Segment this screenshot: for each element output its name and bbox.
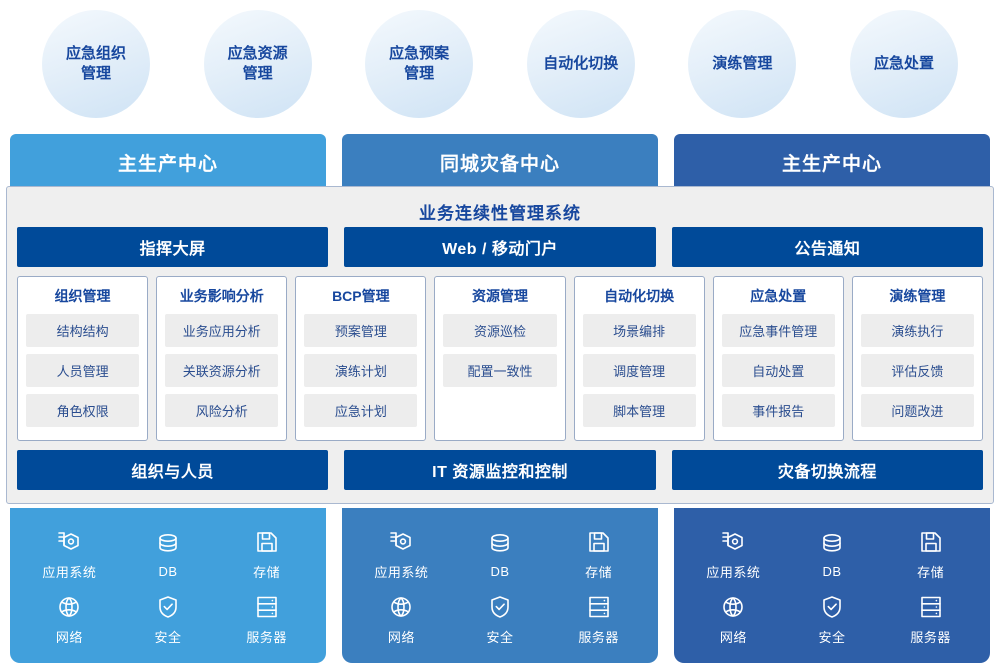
database-icon — [155, 531, 181, 557]
module-item[interactable]: 调度管理 — [583, 354, 696, 387]
server-rack-icon — [586, 594, 612, 620]
module-title: 资源管理 — [443, 286, 556, 306]
module-item[interactable]: 业务应用分析 — [165, 314, 278, 347]
infra-item-app-system[interactable]: 应用系统 — [20, 529, 119, 581]
infra-label: 安全 — [154, 627, 181, 646]
module-item[interactable]: 问题改进 — [861, 394, 974, 427]
module-card-bcp-management[interactable]: BCP管理 预案管理 演练计划 应急计划 — [295, 276, 426, 441]
infra-label: DB — [822, 564, 841, 579]
capability-circle-3-line1: 自动化切换 — [535, 54, 626, 74]
datacenter-header-metro-dr[interactable]: 同城灾备中心 — [342, 134, 658, 190]
datacenter-header-primary[interactable]: 主生产中心 — [10, 134, 326, 190]
bottom-band-row: 组织与人员 IT 资源监控和控制 灾备切换流程 — [17, 450, 983, 490]
capability-circle-5[interactable]: 应急处置 — [850, 10, 958, 118]
infrastructure-panel-primary: 应用系统 DB 存储 — [10, 508, 326, 663]
capability-circle-2[interactable]: 应急预案 管理 — [365, 10, 473, 118]
infra-item-storage[interactable]: 存储 — [217, 529, 316, 581]
datacenter-headers-row: 主生产中心 同城灾备中心 主生产中心 — [0, 134, 1000, 190]
capability-circle-5-line1: 应急处置 — [866, 54, 942, 74]
module-title: 组织管理 — [26, 286, 139, 306]
capability-circle-2-line1: 应急预案 — [381, 44, 457, 64]
capability-circle-4[interactable]: 演练管理 — [688, 10, 796, 118]
datacenter-header-primary-2[interactable]: 主生产中心 — [674, 134, 990, 190]
storage-icon — [586, 529, 612, 555]
infra-label: DB — [158, 564, 177, 579]
module-card-grid: 组织管理 结构结构 人员管理 角色权限 业务影响分析 业务应用分析 关联资源分析… — [17, 276, 983, 441]
module-item[interactable]: 人员管理 — [26, 354, 139, 387]
infrastructure-panel-metro-dr: 应用系统 DB 存储 — [342, 508, 658, 663]
infra-item-storage[interactable]: 存储 — [881, 529, 980, 581]
module-card-org-management[interactable]: 组织管理 结构结构 人员管理 角色权限 — [17, 276, 148, 441]
module-item[interactable]: 脚本管理 — [583, 394, 696, 427]
infra-label: 网络 — [388, 627, 415, 646]
infra-item-db[interactable]: DB — [119, 531, 218, 579]
module-title: BCP管理 — [304, 286, 417, 306]
shield-check-icon — [819, 594, 845, 620]
infra-item-security[interactable]: 安全 — [451, 594, 550, 646]
module-item[interactable]: 评估反馈 — [861, 354, 974, 387]
infra-label: 服务器 — [246, 627, 287, 646]
module-item[interactable]: 应急事件管理 — [722, 314, 835, 347]
capability-circle-1-line2: 管理 — [220, 64, 296, 84]
module-item[interactable]: 事件报告 — [722, 394, 835, 427]
capability-circle-1-line1: 应急资源 — [220, 44, 296, 64]
capability-circle-0-line1: 应急组织 — [58, 44, 134, 64]
band-item-it-resource-monitoring[interactable]: IT 资源监控和控制 — [344, 450, 655, 490]
infra-item-db[interactable]: DB — [451, 531, 550, 579]
module-item[interactable]: 预案管理 — [304, 314, 417, 347]
infrastructure-panels-row: 应用系统 DB 存储 — [0, 508, 1000, 663]
network-globe-icon — [388, 594, 414, 620]
server-rack-icon — [918, 594, 944, 620]
module-item[interactable]: 配置一致性 — [443, 354, 556, 387]
infra-label: 存储 — [917, 562, 944, 581]
module-card-business-impact-analysis[interactable]: 业务影响分析 业务应用分析 关联资源分析 风险分析 — [156, 276, 287, 441]
storage-icon — [254, 529, 280, 555]
module-item[interactable]: 结构结构 — [26, 314, 139, 347]
bcm-system-title: 业务连续性管理系统 — [17, 195, 983, 227]
network-globe-icon — [56, 594, 82, 620]
infrastructure-panel-primary-2: 应用系统 DB 存储 — [674, 508, 990, 663]
database-icon — [819, 531, 845, 557]
module-card-resource-management[interactable]: 资源管理 资源巡检 配置一致性 — [434, 276, 565, 441]
module-card-emergency-response[interactable]: 应急处置 应急事件管理 自动处置 事件报告 — [713, 276, 844, 441]
capability-circles-row: 应急组织 管理 应急资源 管理 应急预案 管理 自动化切换 演练管理 应急处置 — [0, 0, 1000, 128]
server-rack-icon — [254, 594, 280, 620]
shield-check-icon — [155, 594, 181, 620]
infra-label: DB — [490, 564, 509, 579]
app-system-icon — [388, 529, 414, 555]
module-item[interactable]: 场景编排 — [583, 314, 696, 347]
band-item-org-and-people[interactable]: 组织与人员 — [17, 450, 328, 490]
capability-circle-4-line1: 演练管理 — [704, 54, 780, 74]
module-item[interactable]: 角色权限 — [26, 394, 139, 427]
capability-circle-0[interactable]: 应急组织 管理 — [42, 10, 150, 118]
database-icon — [487, 531, 513, 557]
capability-circle-2-line2: 管理 — [381, 64, 457, 84]
capability-circle-0-line2: 管理 — [58, 64, 134, 84]
app-system-icon — [720, 529, 746, 555]
infra-item-security[interactable]: 安全 — [783, 594, 882, 646]
infra-item-server[interactable]: 服务器 — [549, 594, 648, 646]
module-title: 应急处置 — [722, 286, 835, 306]
module-item[interactable]: 演练执行 — [861, 314, 974, 347]
infra-label: 网络 — [56, 627, 83, 646]
band-item-dr-switchover-process[interactable]: 灾备切换流程 — [672, 450, 983, 490]
infra-item-server[interactable]: 服务器 — [881, 594, 980, 646]
infra-label: 应用系统 — [42, 562, 96, 581]
infra-item-server[interactable]: 服务器 — [217, 594, 316, 646]
infra-item-app-system[interactable]: 应用系统 — [352, 529, 451, 581]
module-item[interactable]: 应急计划 — [304, 394, 417, 427]
infra-label: 安全 — [486, 627, 513, 646]
module-card-automatic-switchover[interactable]: 自动化切换 场景编排 调度管理 脚本管理 — [574, 276, 705, 441]
module-title: 演练管理 — [861, 286, 974, 306]
module-title: 业务影响分析 — [165, 286, 278, 306]
infra-item-network[interactable]: 网络 — [20, 594, 119, 646]
module-item[interactable]: 风险分析 — [165, 394, 278, 427]
network-globe-icon — [720, 594, 746, 620]
infra-label: 服务器 — [910, 627, 951, 646]
infra-item-app-system[interactable]: 应用系统 — [684, 529, 783, 581]
infra-label: 网络 — [720, 627, 747, 646]
capability-circle-1[interactable]: 应急资源 管理 — [204, 10, 312, 118]
infra-item-storage[interactable]: 存储 — [549, 529, 648, 581]
infra-label: 存储 — [253, 562, 280, 581]
infra-item-db[interactable]: DB — [783, 531, 882, 579]
infra-label: 应用系统 — [374, 562, 428, 581]
capability-circle-3[interactable]: 自动化切换 — [527, 10, 635, 118]
module-item[interactable]: 自动处置 — [722, 354, 835, 387]
module-item[interactable]: 关联资源分析 — [165, 354, 278, 387]
module-title: 自动化切换 — [583, 286, 696, 306]
app-system-icon — [56, 529, 82, 555]
infra-label: 服务器 — [578, 627, 619, 646]
infra-label: 存储 — [585, 562, 612, 581]
storage-icon — [918, 529, 944, 555]
infra-item-network[interactable]: 网络 — [684, 594, 783, 646]
bcm-system-panel: 业务连续性管理系统 指挥大屏 Web / 移动门户 公告通知 组织管理 结构结构… — [6, 186, 994, 504]
module-item[interactable]: 资源巡检 — [443, 314, 556, 347]
band-item-announcement[interactable]: 公告通知 — [672, 227, 983, 267]
infra-item-network[interactable]: 网络 — [352, 594, 451, 646]
infra-label: 应用系统 — [706, 562, 760, 581]
band-item-web-mobile-portal[interactable]: Web / 移动门户 — [344, 227, 655, 267]
infra-label: 安全 — [818, 627, 845, 646]
shield-check-icon — [487, 594, 513, 620]
top-band-row: 指挥大屏 Web / 移动门户 公告通知 — [17, 227, 983, 267]
module-item[interactable]: 演练计划 — [304, 354, 417, 387]
infra-item-security[interactable]: 安全 — [119, 594, 218, 646]
module-card-drill-management[interactable]: 演练管理 演练执行 评估反馈 问题改进 — [852, 276, 983, 441]
band-item-command-screen[interactable]: 指挥大屏 — [17, 227, 328, 267]
